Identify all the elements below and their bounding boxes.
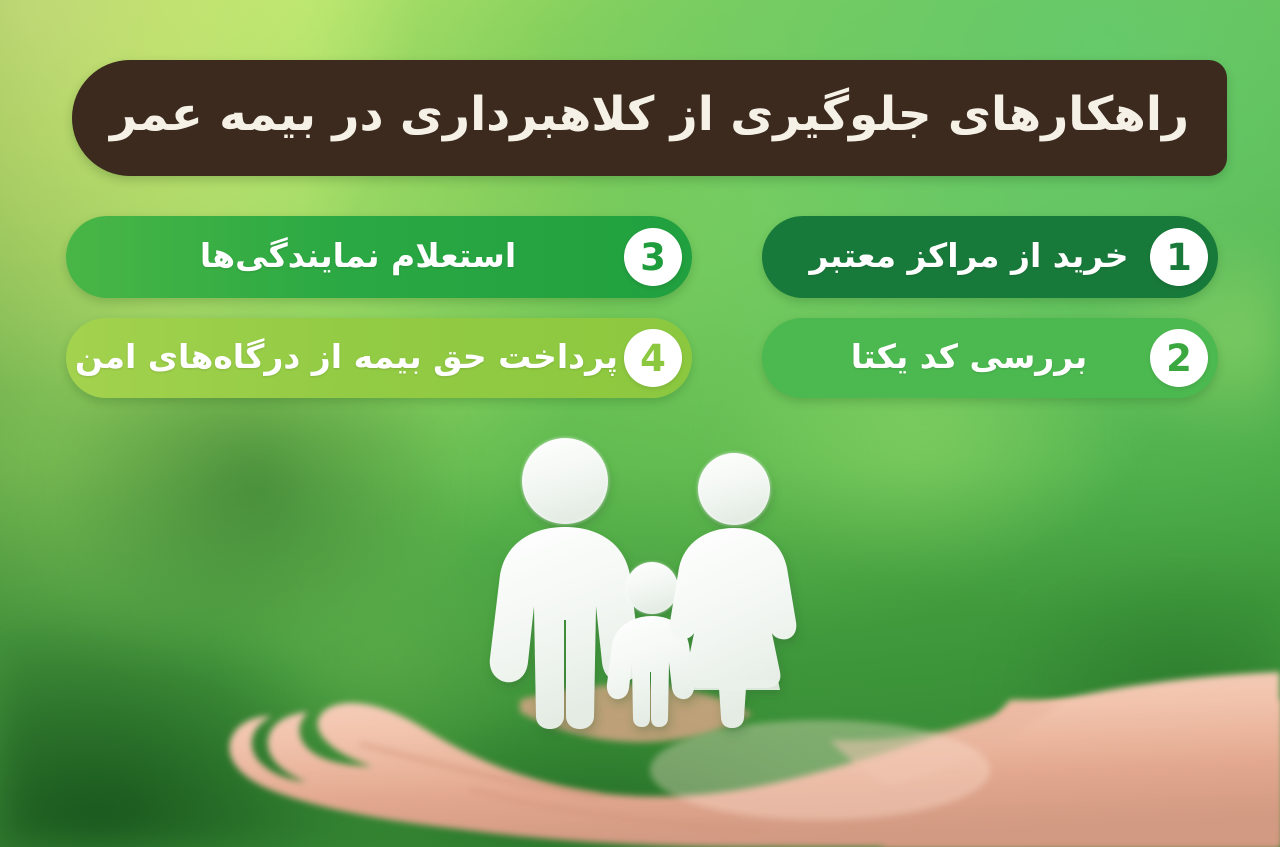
adult-woman-figure: [670, 453, 797, 728]
step-number-badge-2: 2: [1150, 329, 1208, 387]
adult-man-figure: [490, 438, 640, 729]
step-label-2: بررسی کد یکتا: [788, 337, 1150, 380]
step-number-badge-3: 3: [624, 228, 682, 286]
step-number-badge-4: 4: [624, 329, 682, 387]
step-item-1[interactable]: 1 خرید از مراکز معتبر: [762, 216, 1218, 298]
open-palm-shape: [229, 672, 1280, 847]
poster-title-bar: راهکارهای جلوگیری از کلاهبرداری در بیمه …: [72, 60, 1227, 176]
paper-family-group: [490, 438, 797, 729]
step-item-2[interactable]: 2 بررسی کد یکتا: [762, 318, 1218, 398]
step-label-3: استعلام نمایندگی‌ها: [92, 236, 624, 279]
step-item-4[interactable]: 4 پرداخت حق بیمه از درگاه‌های امن: [66, 318, 692, 398]
step-label-1: خرید از مراکز معتبر: [788, 236, 1150, 279]
step-label-4: پرداخت حق بیمه از درگاه‌های امن: [69, 337, 624, 380]
cutout-edge-glow: [522, 438, 770, 614]
step-item-3[interactable]: 3 استعلام نمایندگی‌ها: [66, 216, 692, 298]
infographic-poster: راهکارهای جلوگیری از کلاهبرداری در بیمه …: [0, 0, 1280, 847]
forearm-shape: [880, 700, 1280, 847]
step-number-badge-1: 1: [1150, 228, 1208, 286]
palm-highlight: [650, 720, 990, 820]
child-figure: [607, 562, 694, 727]
finger-creases: [360, 744, 760, 830]
page-title: راهکارهای جلوگیری از کلاهبرداری در بیمه …: [110, 87, 1189, 142]
